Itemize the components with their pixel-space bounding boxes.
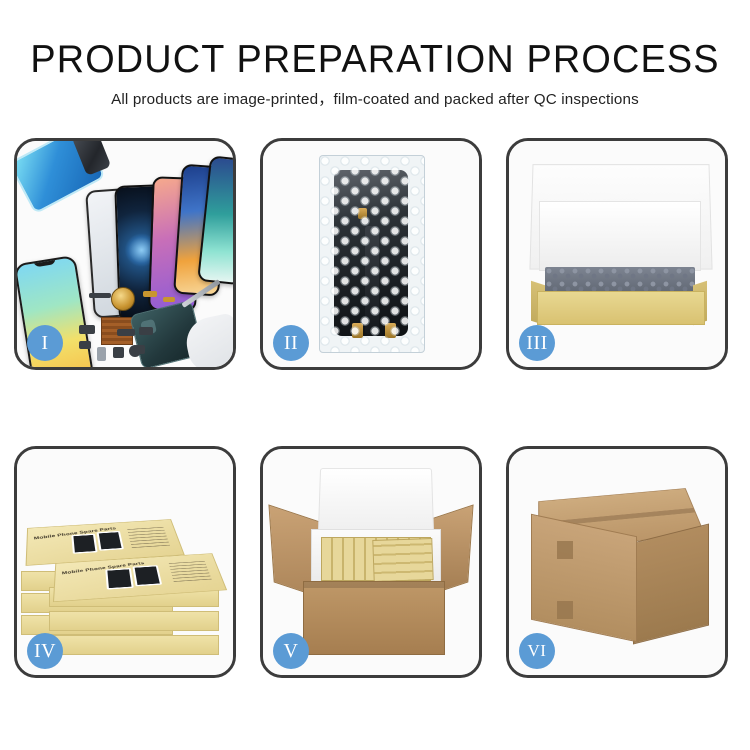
step-badge-3: III: [519, 325, 555, 361]
foam-box-lid-icon: [318, 468, 434, 533]
carton-tape-upper-icon: [557, 541, 573, 559]
process-step-6: VI: [506, 446, 728, 678]
carton-body-icon: [303, 581, 445, 655]
step-badge-6: VI: [519, 633, 555, 669]
bubble-wrap-bag-icon: [319, 155, 425, 353]
component-block-4-icon: [139, 327, 153, 335]
step-badge-4: IV: [27, 633, 63, 669]
carton-right-face-icon: [633, 524, 709, 645]
speaker-component-icon: [111, 287, 135, 311]
product-preparation-page: PRODUCT PREPARATION PROCESS All products…: [0, 0, 750, 750]
process-step-1: I: [14, 138, 236, 370]
step-badge-5: V: [273, 633, 309, 669]
carton-tape-lower-icon: [557, 601, 573, 619]
process-step-3: III: [506, 138, 728, 370]
box-window-icon: [132, 565, 162, 586]
box-window-icon: [105, 568, 133, 590]
box-stack-icon: Mobile Phone Spare Parts Mobile Phone Sp…: [21, 475, 233, 661]
box-front-icon: [537, 291, 705, 325]
step-badge-1: I: [27, 325, 63, 361]
stacked-box-icon: [49, 611, 219, 631]
bubble-texture-icon: [320, 156, 424, 352]
packed-boxes-secondary-icon: [372, 538, 433, 582]
component-gold-clip-icon: [163, 297, 175, 302]
page-title: PRODUCT PREPARATION PROCESS: [11, 38, 739, 82]
process-step-2: II: [260, 138, 482, 370]
component-block-1-icon: [79, 325, 95, 334]
page-header: PRODUCT PREPARATION PROCESS All products…: [0, 38, 750, 110]
process-step-grid: I II: [14, 138, 736, 680]
process-step-4: Mobile Phone Spare Parts Mobile Phone Sp…: [14, 446, 236, 678]
component-block-5-icon: [135, 345, 145, 354]
component-flex-cable-icon: [117, 329, 135, 336]
box-spec-lines-icon: [169, 561, 212, 583]
component-block-3-icon: [113, 347, 124, 358]
page-subtitle: All products are image-printed，film-coat…: [0, 90, 750, 110]
foam-liner-icon: [539, 201, 701, 271]
component-strip-icon: [89, 293, 111, 298]
component-gold-contact-icon: [143, 291, 157, 297]
stacked-box-icon: [49, 635, 219, 655]
component-sim-tray-icon: [97, 347, 106, 361]
box-spec-lines-icon: [127, 527, 170, 549]
process-step-5: V: [260, 446, 482, 678]
step-badge-2: II: [273, 325, 309, 361]
carton-left-face-icon: [531, 514, 637, 643]
box-window-icon: [97, 531, 124, 551]
box-window-icon: [71, 534, 97, 554]
component-block-2-icon: [79, 341, 91, 349]
